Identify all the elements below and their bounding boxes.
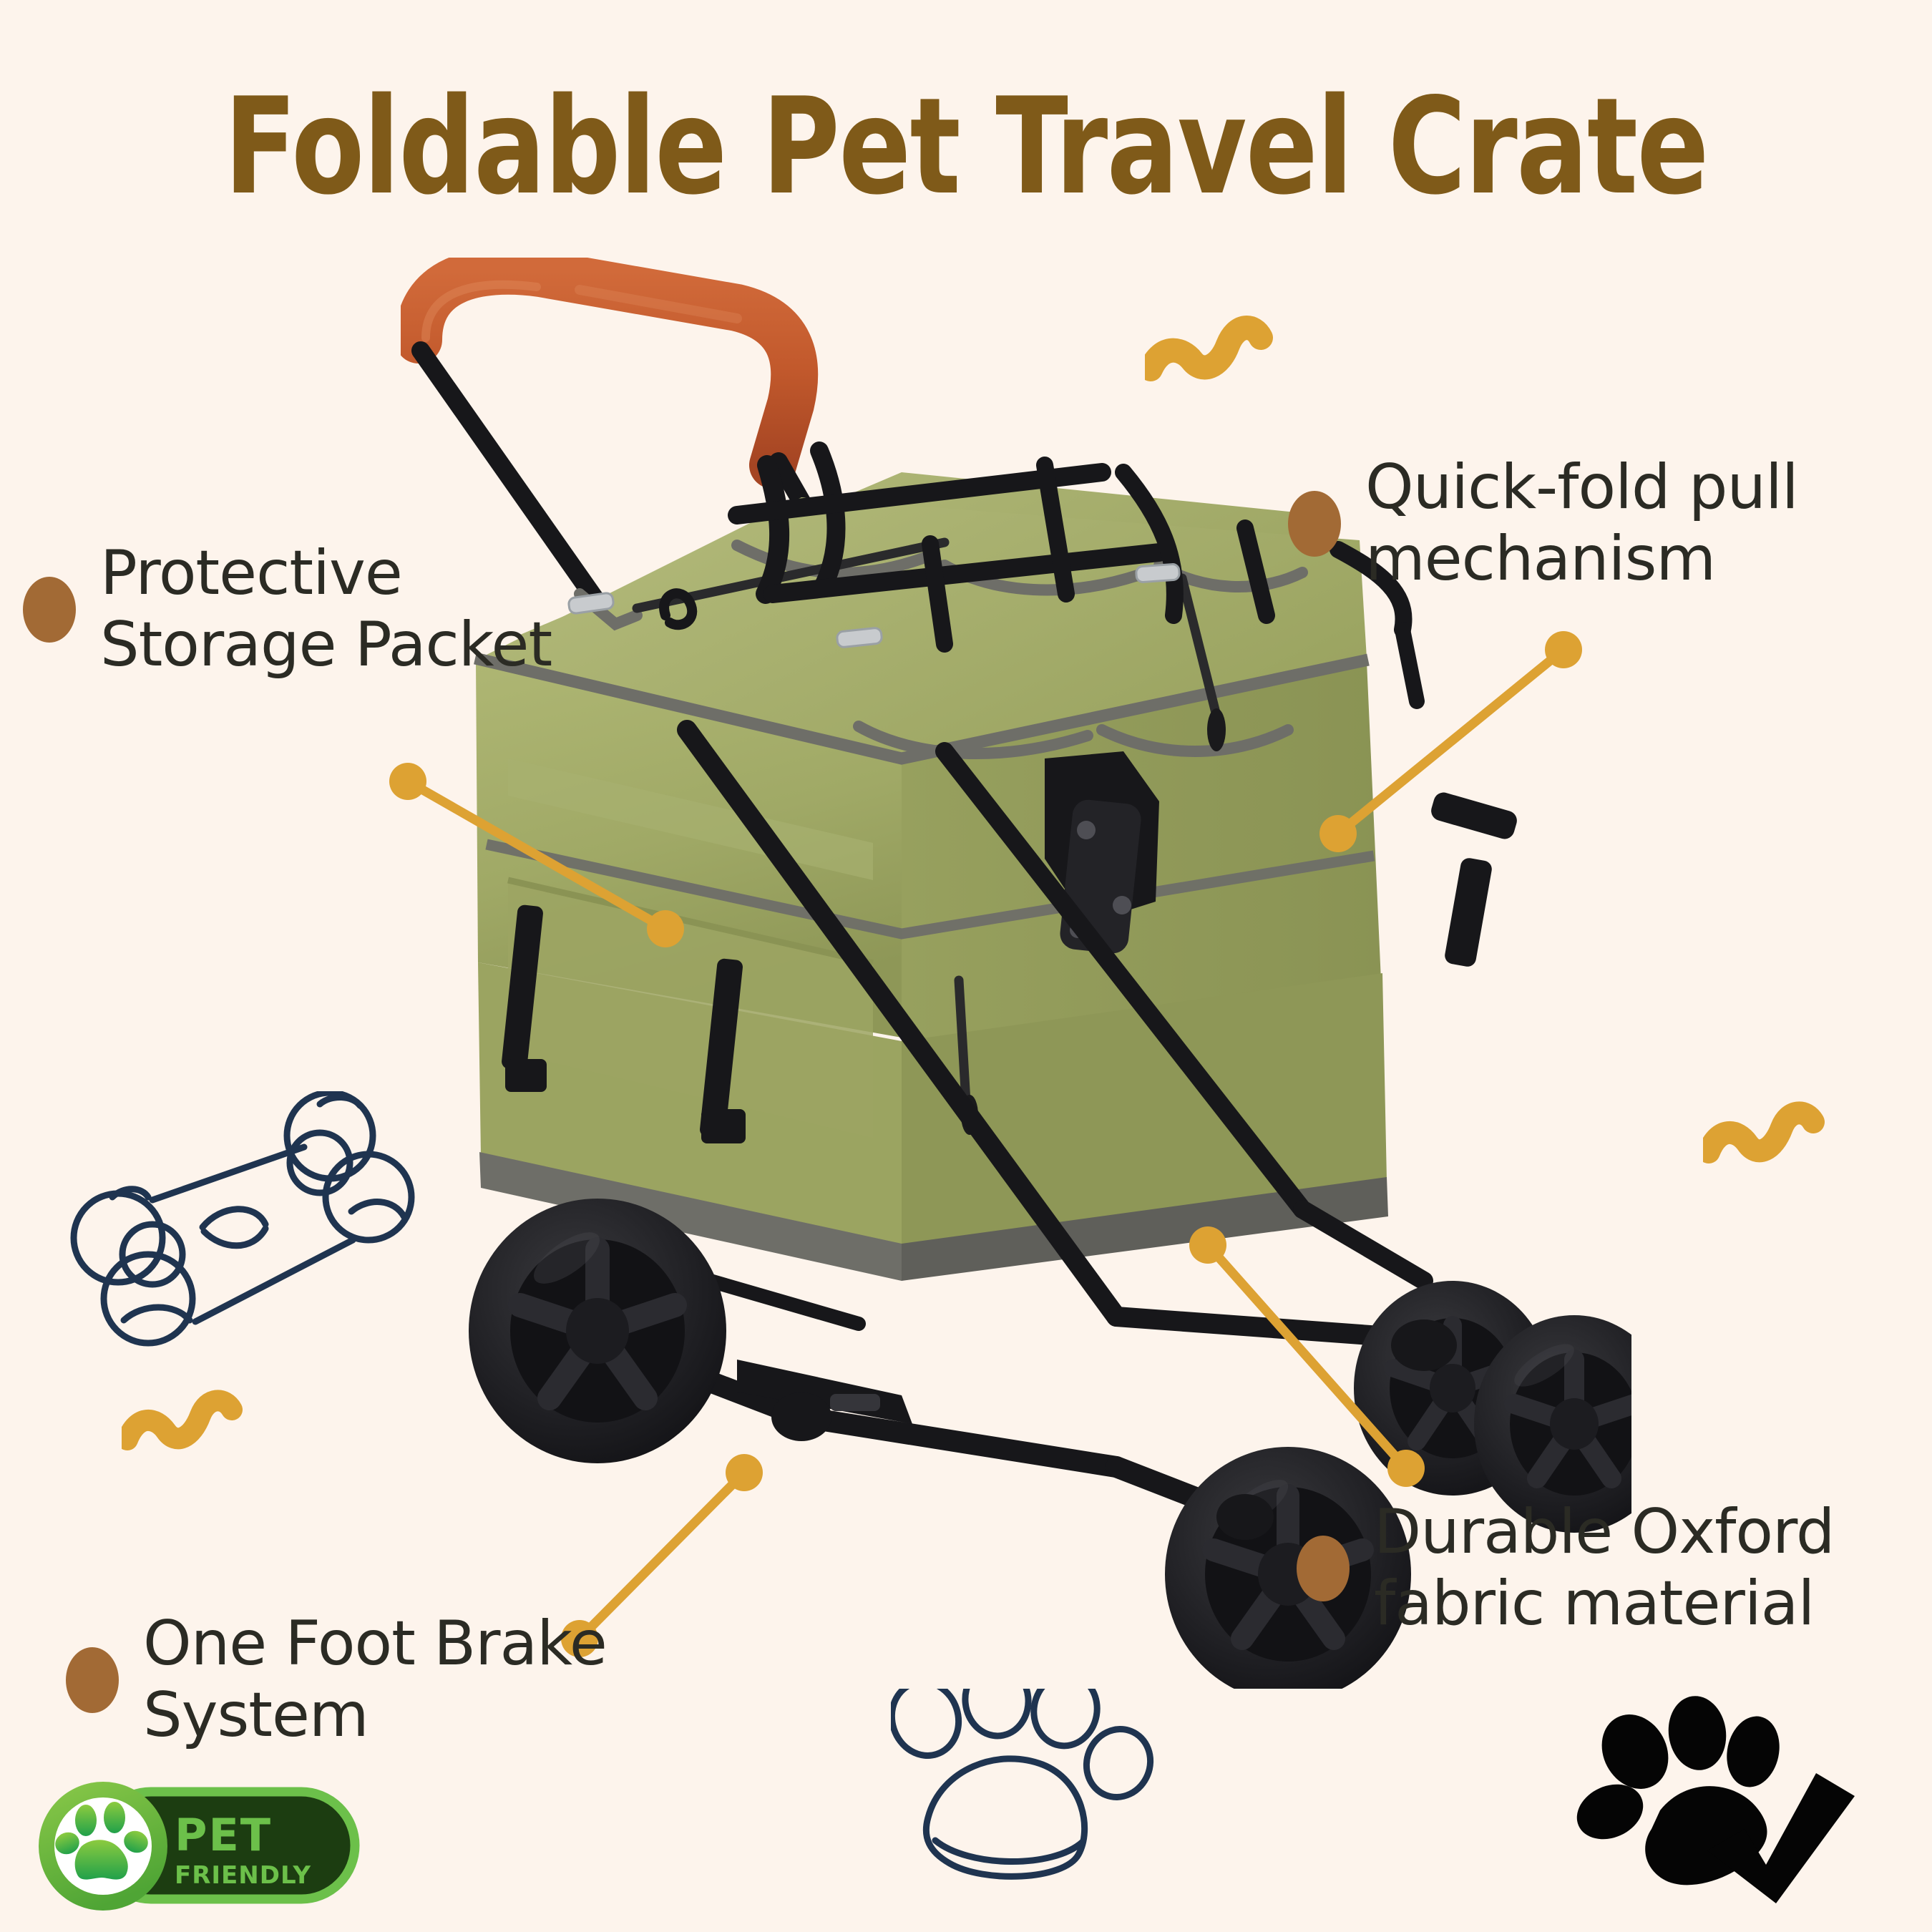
callout-one-foot-brake-system[interactable]: One Foot Brake System xyxy=(66,1609,607,1752)
callout-label: One Foot Brake System xyxy=(143,1609,607,1752)
callout-label: Protective Storage Packet xyxy=(100,538,552,681)
page-title: Foldable Pet Travel Crate xyxy=(193,80,1739,213)
callout-bullet-icon xyxy=(1297,1536,1350,1601)
squiggle-left-icon xyxy=(122,1388,258,1467)
callout-protective-storage-packet[interactable]: Protective Storage Packet xyxy=(23,538,552,681)
wheel-front-left xyxy=(469,1199,726,1463)
bone-doodle-icon xyxy=(68,1091,440,1377)
pet-friendly-badge[interactable]: PET FRIENDLY xyxy=(34,1776,364,1916)
callout-bullet-icon xyxy=(23,577,76,643)
squiggle-right-icon xyxy=(1703,1101,1839,1179)
paw-check-icon xyxy=(1574,1696,1911,1925)
badge-text-pet: PET xyxy=(175,1809,272,1861)
callout-label: Durable Oxford fabric material xyxy=(1374,1497,1834,1640)
paw-doodle-icon xyxy=(891,1689,1177,1925)
callout-durable-oxford-fabric-material[interactable]: Durable Oxford fabric material xyxy=(1297,1497,1834,1640)
callout-quick-fold-pull-mechanism[interactable]: Quick-fold pull mechanism xyxy=(1288,452,1798,595)
infographic-canvas: Foldable Pet Travel Crate xyxy=(0,0,1932,1932)
badge-paw-icon xyxy=(39,1782,167,1911)
badge-text-friendly: FRIENDLY xyxy=(175,1861,311,1890)
callout-label: Quick-fold pull mechanism xyxy=(1365,452,1798,595)
callout-bullet-icon xyxy=(1288,491,1341,557)
callout-bullet-icon xyxy=(66,1647,119,1713)
